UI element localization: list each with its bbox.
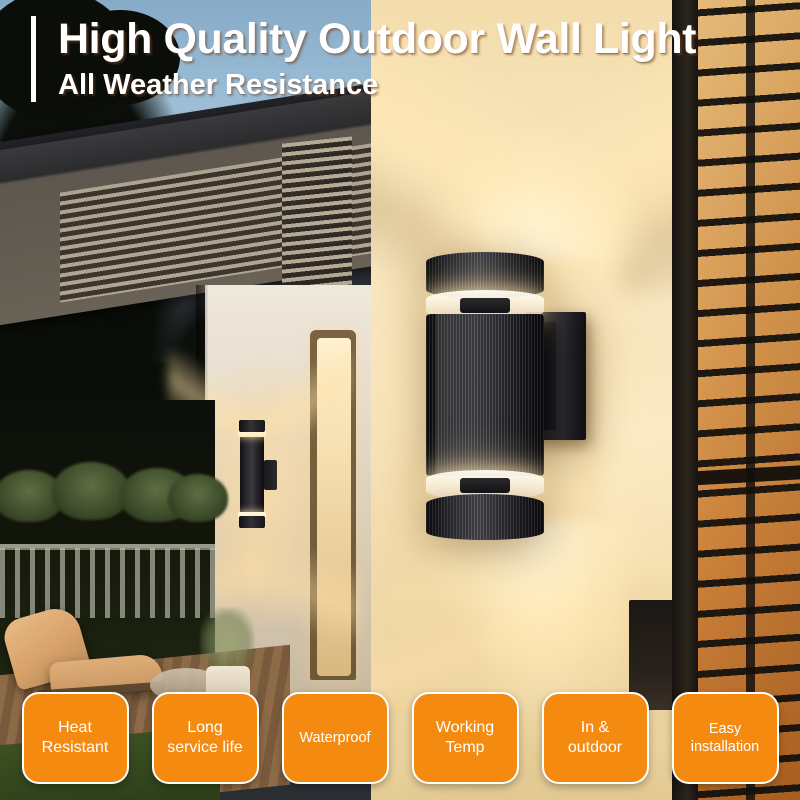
feature-badge-long-service-life[interactable]: Longservice life: [152, 692, 259, 784]
fixture-body: [426, 314, 544, 476]
badge-label: In &outdoor: [568, 718, 622, 758]
page-title: High Quality Outdoor Wall Light: [58, 16, 771, 62]
led-emitter-top: [460, 298, 510, 313]
scene-left-dusk-garden: [0, 0, 371, 800]
horizontal-louvre-screen: [698, 0, 800, 800]
badge-label: HeatResistant: [42, 718, 109, 758]
feature-badge-working-temp[interactable]: WorkingTemp: [412, 692, 519, 784]
mini-lamp-cap-bottom: [239, 516, 265, 528]
fixture-cap-bottom: [426, 494, 544, 540]
led-emitter-bottom: [460, 478, 510, 493]
narrow-window: [310, 330, 356, 680]
plant-foliage: [200, 608, 254, 670]
fixture-cap-ribs: [426, 494, 544, 540]
main-wall-light-fixture: [426, 252, 544, 540]
fixture-body-highlight: [436, 314, 482, 476]
feature-badge-waterproof[interactable]: Waterproof: [282, 692, 389, 784]
feature-badge-row: HeatResistant Longservice life Waterproo…: [0, 688, 800, 788]
patio-railing: [0, 548, 215, 618]
product-poster: High Quality Outdoor Wall Light All Weat…: [0, 0, 800, 800]
badge-label: Easyinstallation: [691, 720, 760, 756]
feature-badge-easy-installation[interactable]: Easyinstallation: [672, 692, 779, 784]
mini-lamp-cap-top: [239, 420, 265, 432]
badge-label: Longservice life: [167, 718, 243, 758]
headline-block: High Quality Outdoor Wall Light All Weat…: [31, 16, 771, 102]
louvre-vertical-rail: [746, 0, 755, 800]
secondary-wall-light: [237, 420, 267, 528]
page-subtitle: All Weather Resistance: [58, 70, 771, 102]
feature-badge-heat-resistant[interactable]: HeatResistant: [22, 692, 129, 784]
feature-badge-in-and-outdoor[interactable]: In &outdoor: [542, 692, 649, 784]
shrub: [52, 462, 130, 520]
mini-lamp-body: [240, 434, 264, 514]
badge-label: Waterproof: [299, 729, 370, 747]
shrub: [168, 474, 228, 522]
dark-frame-post: [672, 0, 698, 800]
badge-label: WorkingTemp: [436, 718, 494, 758]
mini-lamp-bracket: [264, 460, 277, 490]
